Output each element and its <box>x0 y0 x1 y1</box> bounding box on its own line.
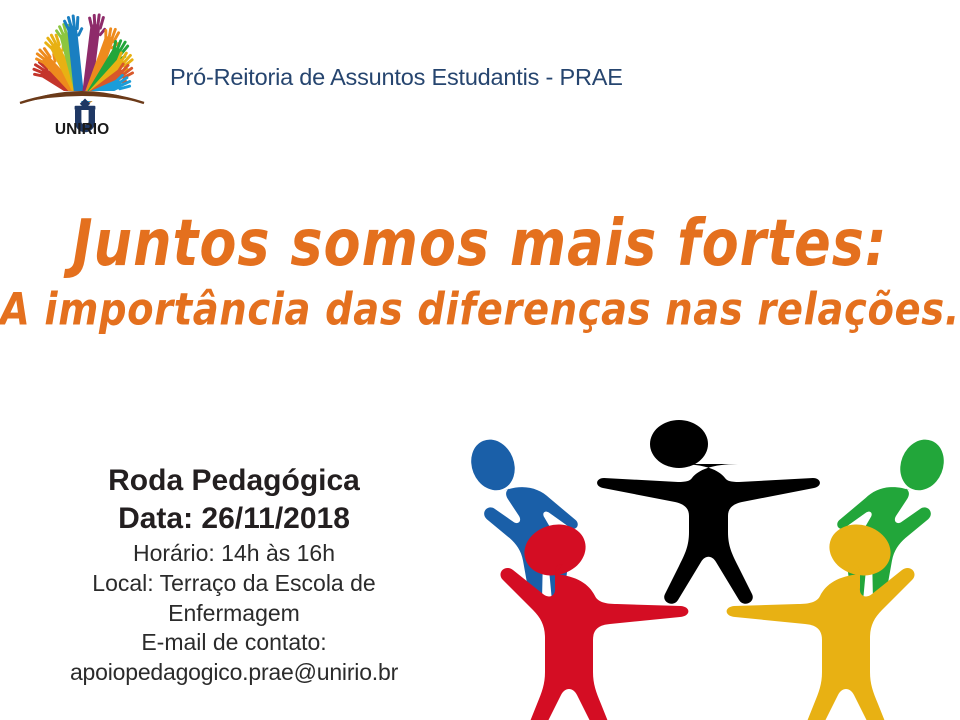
event-location-line-1: Local: Terraço da Escola de <box>18 569 450 599</box>
people-circle-graphic <box>455 398 960 720</box>
event-name: Roda Pedagógica <box>18 462 450 500</box>
event-time: Horário: 14h às 16h <box>18 539 450 569</box>
unirio-logo-graphic: UNIRIO <box>12 5 152 135</box>
five-people-holding-hands-circle <box>455 398 960 720</box>
title-line-1: Juntos somos mais fortes: <box>0 212 960 276</box>
poster-canvas: UNIRIO Pró-Reitoria de Assuntos Estudant… <box>0 0 960 720</box>
unirio-logo: UNIRIO <box>12 5 152 135</box>
event-date: Data: 26/11/2018 <box>18 500 450 538</box>
title-line-2: A importância das diferenças nas relaçõe… <box>0 289 960 333</box>
poster-title: Juntos somos mais fortes: A importância … <box>0 212 960 328</box>
figure-yellow <box>727 517 915 720</box>
figure-red <box>500 517 688 720</box>
event-details: Roda Pedagógica Data: 26/11/2018 Horário… <box>18 462 450 688</box>
header-title: Pró-Reitoria de Assuntos Estudantis - PR… <box>170 64 623 91</box>
poster-header: UNIRIO Pró-Reitoria de Assuntos Estudant… <box>0 0 960 140</box>
event-location-line-2: Enfermagem <box>18 599 450 629</box>
contact-email: apoiopedagogico.prae@unirio.br <box>18 658 450 688</box>
figure-black <box>597 420 820 604</box>
contact-email-label: E-mail de contato: <box>18 628 450 658</box>
logo-wordmark: UNIRIO <box>55 121 109 135</box>
